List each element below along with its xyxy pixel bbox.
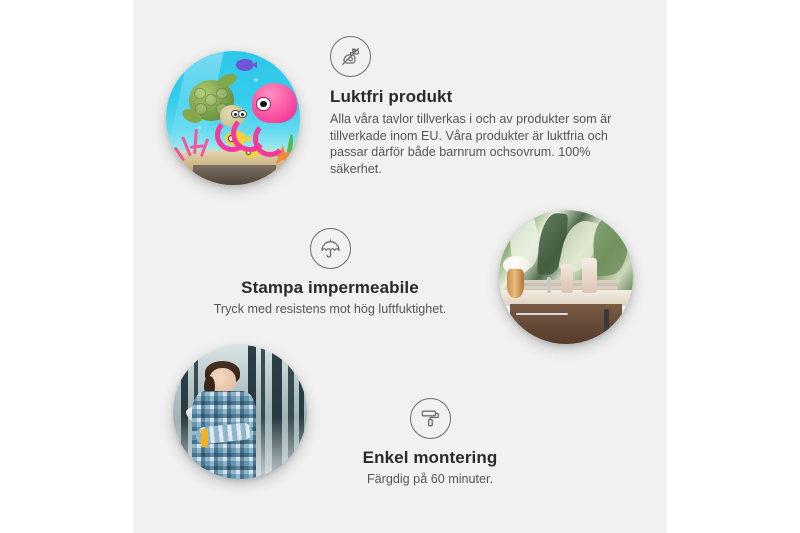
umbrella-icon bbox=[310, 228, 351, 269]
feature-easy-mounting: Enkel montering Färgdig på 60 minuter. bbox=[300, 398, 560, 488]
image-bathroom-vanity bbox=[499, 210, 633, 344]
paint-roller-icon bbox=[410, 398, 451, 439]
feature-body: Alla våra tavlor tillverkas i och av pro… bbox=[330, 111, 630, 177]
feature-title: Enkel montering bbox=[300, 447, 560, 468]
feature-title: Stampa impermeabile bbox=[190, 277, 470, 298]
feature-waterproof: Stampa impermeabile Tryck med resistens … bbox=[190, 228, 470, 318]
feature-odor-free: Luktfri produkt Alla våra tavlor tillver… bbox=[330, 36, 630, 177]
no-fragrance-icon bbox=[330, 36, 371, 77]
image-decorator-forest bbox=[173, 345, 307, 479]
image-underwater-mural bbox=[166, 51, 300, 185]
page-canvas: Luktfri produkt Alla våra tavlor tillver… bbox=[0, 0, 800, 533]
feature-title: Luktfri produkt bbox=[330, 86, 630, 107]
feature-body: Tryck med resistens mot hög luftfuktighe… bbox=[190, 301, 470, 318]
feature-body: Färgdig på 60 minuter. bbox=[300, 471, 560, 488]
